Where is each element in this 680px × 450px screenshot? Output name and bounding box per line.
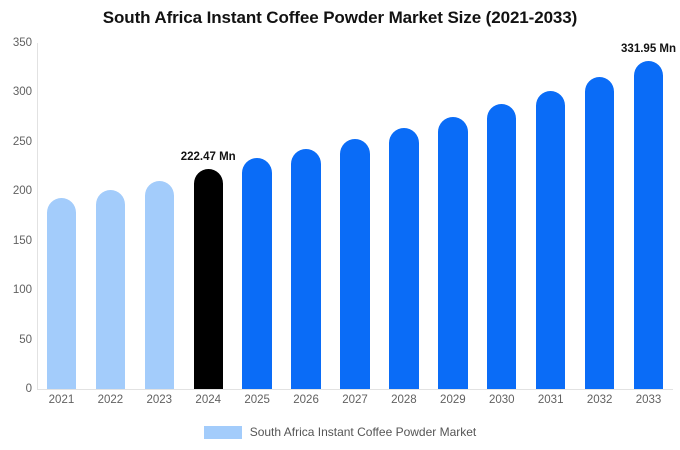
bar-value-label: 222.47 Mn: [181, 151, 236, 163]
y-axis-tick-label: 0: [2, 383, 32, 395]
bar[interactable]: [242, 158, 271, 389]
legend-label: South Africa Instant Coffee Powder Marke…: [250, 425, 477, 439]
bar-slot[interactable]: [340, 43, 369, 389]
x-axis-tick-label: 2023: [147, 394, 173, 406]
bar-slot[interactable]: [634, 43, 663, 389]
bar[interactable]: [487, 104, 516, 389]
y-axis-tick-label: 100: [2, 284, 32, 296]
x-axis-tick-label: 2032: [587, 394, 613, 406]
y-axis-tick-label: 150: [2, 235, 32, 247]
bar-slot[interactable]: [291, 43, 320, 389]
x-axis-tick-label: 2022: [98, 394, 124, 406]
bar-chart: South Africa Instant Coffee Powder Marke…: [0, 0, 680, 450]
bar[interactable]: [96, 190, 125, 389]
x-axis-tick-label: 2026: [293, 394, 319, 406]
legend-item[interactable]: South Africa Instant Coffee Powder Marke…: [204, 425, 477, 439]
bar-slot[interactable]: [389, 43, 418, 389]
bar[interactable]: [389, 128, 418, 389]
chart-legend: South Africa Instant Coffee Powder Marke…: [0, 425, 680, 439]
bar-slot[interactable]: [96, 43, 125, 389]
bar[interactable]: [291, 149, 320, 389]
bar-slot[interactable]: [47, 43, 76, 389]
x-axis-tick-label: 2027: [342, 394, 368, 406]
x-axis-tick-label: 2025: [244, 394, 270, 406]
bar-slot[interactable]: [242, 43, 271, 389]
bar-slot[interactable]: [585, 43, 614, 389]
y-axis-tick-label: 250: [2, 136, 32, 148]
bar[interactable]: [340, 139, 369, 389]
y-axis: 350300250200150100500: [0, 0, 32, 450]
bar[interactable]: [536, 91, 565, 389]
bar[interactable]: [194, 169, 223, 389]
bar[interactable]: [585, 77, 614, 389]
y-axis-tick-label: 300: [2, 86, 32, 98]
bar[interactable]: [47, 198, 76, 389]
bar-slot[interactable]: [194, 43, 223, 389]
bar-slot[interactable]: [438, 43, 467, 389]
x-axis-tick-label: 2028: [391, 394, 417, 406]
chart-title: South Africa Instant Coffee Powder Marke…: [0, 8, 680, 28]
bar-value-label: 331.95 Mn: [621, 43, 676, 55]
x-axis-tick-label: 2021: [49, 394, 75, 406]
legend-swatch-icon: [204, 426, 242, 439]
bar[interactable]: [145, 181, 174, 389]
x-axis-tick-label: 2031: [538, 394, 564, 406]
x-axis-tick-label: 2029: [440, 394, 466, 406]
bar-slot[interactable]: [145, 43, 174, 389]
x-axis-tick-label: 2030: [489, 394, 515, 406]
y-axis-tick-label: 50: [2, 334, 32, 346]
x-axis-tick-label: 2033: [636, 394, 662, 406]
bar-slot[interactable]: [487, 43, 516, 389]
bar[interactable]: [634, 61, 663, 389]
bar[interactable]: [438, 117, 467, 389]
x-axis-line: [37, 389, 673, 390]
bar-slot[interactable]: [536, 43, 565, 389]
plot-area: [37, 43, 673, 389]
y-axis-tick-label: 350: [2, 37, 32, 49]
x-axis-tick-label: 2024: [195, 394, 221, 406]
y-axis-tick-label: 200: [2, 185, 32, 197]
